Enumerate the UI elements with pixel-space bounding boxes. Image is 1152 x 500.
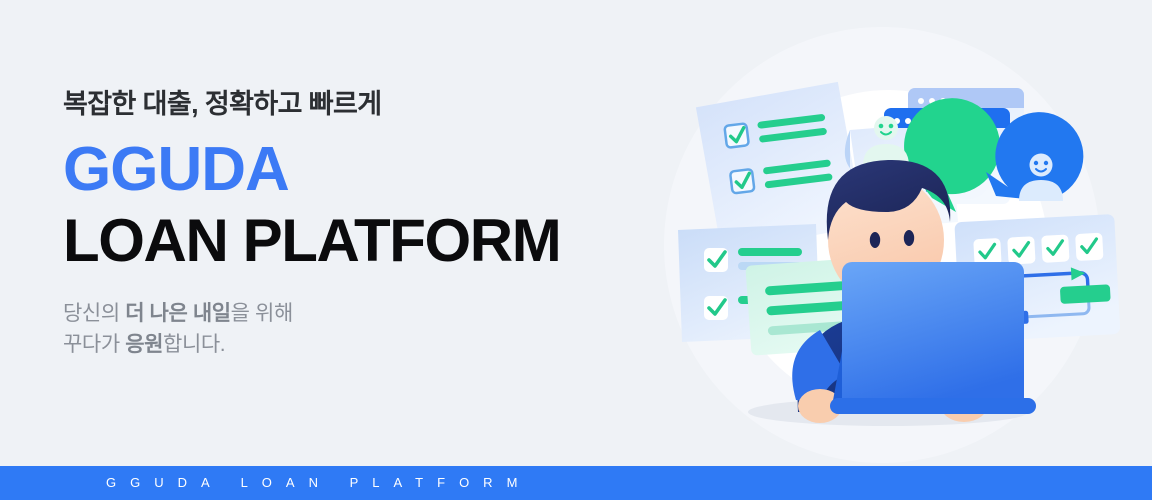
tagline-1-pre: 당신의 [63, 302, 125, 325]
tagline-2-post: 합니다. [163, 333, 225, 356]
hero-eyebrow: 복잡한 대출, 정확하고 빠르게 [63, 88, 623, 122]
laptop [830, 262, 1036, 414]
hero-illustration [620, 0, 1152, 466]
hero-product-title: LOAN PLATFORM [63, 209, 623, 272]
tagline-line-1: 당신의 더 나은 내일을 위해 [63, 298, 623, 330]
tagline-line-2: 꾸다가 응원합니다. [63, 329, 623, 361]
hero-copy: 복잡한 대출, 정확하고 빠르게 GGUDA LOAN PLATFORM 당신의… [63, 88, 623, 361]
ticker-label: GGUDA LOAN PLATFORM [106, 466, 531, 500]
tagline-2-pre: 꾸다가 [63, 333, 125, 356]
person-eye-right [904, 230, 914, 246]
hero-brand-title: GGUDA [63, 138, 623, 201]
tagline-1-strong: 더 나은 내일 [125, 302, 230, 325]
tagline-2-strong: 응원 [125, 333, 163, 356]
hero-banner: 복잡한 대출, 정확하고 빠르게 GGUDA LOAN PLATFORM 당신의… [0, 0, 1152, 500]
hero-tagline: 당신의 더 나은 내일을 위해 꾸다가 응원합니다. [63, 298, 623, 361]
tagline-1-post: 을 위해 [231, 302, 293, 325]
bottom-ticker-bar: GGUDA LOAN PLATFORM [0, 466, 1152, 500]
person-eye-left [870, 232, 880, 248]
